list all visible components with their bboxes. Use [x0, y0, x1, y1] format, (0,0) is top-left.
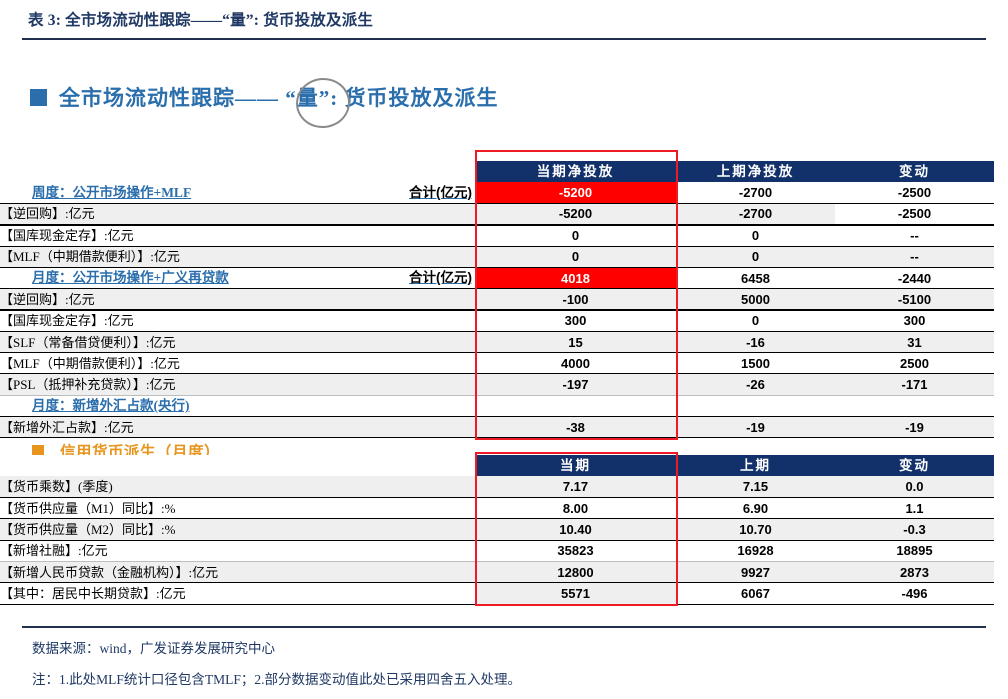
- cell-change: -5100: [835, 289, 994, 310]
- row-label: 【国库现金定存】:亿元: [0, 225, 475, 246]
- row-label: 【逆回购】:亿元: [0, 289, 475, 310]
- table-row: 【新增社融】:亿元 35823 16928 18895: [0, 540, 994, 561]
- table-row: 月度：公开市场操作+广义再贷款 合计(亿元) 4018 6458 -2440: [0, 267, 994, 288]
- table-credit-money-derivation: 当期 上期 变动 【货币乘数】(季度) 7.17 7.15 0.0 【货币供应量…: [0, 455, 994, 605]
- data-source-text: 数据来源：wind，广发证券发展研究中心: [32, 637, 275, 657]
- cell-previous: 10.70: [676, 519, 835, 540]
- row-label: 【货币供应量（M1）同比】:%: [0, 498, 475, 519]
- cell-current: 5571: [475, 583, 676, 604]
- table-row: 【SLF（常备借贷便利）】:亿元 15 -16 31: [0, 331, 994, 352]
- row-label: 【其中：居民中长期贷款】:亿元: [0, 583, 475, 604]
- cell-current: 4018: [475, 267, 676, 288]
- col-header-current: 当期: [475, 455, 676, 476]
- row-label: 【货币乘数】(季度): [0, 476, 475, 497]
- table-row: 【MLF（中期借款便利）】:亿元 4000 1500 2500: [0, 353, 994, 374]
- total-label: 合计(亿元): [409, 271, 475, 285]
- col-header-previous: 上期: [676, 455, 835, 476]
- cell-change: -19: [835, 417, 994, 438]
- cell-previous: 6067: [676, 583, 835, 604]
- row-label: 【MLF（中期借款便利）】:亿元: [0, 353, 475, 374]
- cell-previous: 6458: [676, 267, 835, 288]
- cell-current: [475, 395, 676, 416]
- total-label: 合计(亿元): [409, 186, 475, 200]
- row-label: 【新增社融】:亿元: [0, 540, 475, 561]
- caption-divider: [22, 38, 986, 40]
- cell-current: 300: [475, 310, 676, 331]
- cell-previous: 5000: [676, 289, 835, 310]
- cell-change: -2500: [835, 204, 994, 225]
- cell-current: 4000: [475, 353, 676, 374]
- table-row: 【逆回购】:亿元 -5200 -2700 -2500: [0, 204, 994, 225]
- cell-current: 0: [475, 225, 676, 246]
- table-row: 【货币供应量（M2）同比】:% 10.40 10.70 -0.3: [0, 519, 994, 540]
- row-label-group: 月度：新增外汇占款(央行): [0, 395, 475, 416]
- cell-previous: [676, 395, 835, 416]
- cell-current: 35823: [475, 540, 676, 561]
- table-row: 【国库现金定存】:亿元 300 0 300: [0, 310, 994, 331]
- table-row: 【货币乘数】(季度) 7.17 7.15 0.0: [0, 476, 994, 497]
- cell-change: 18895: [835, 540, 994, 561]
- row-label: 【新增外汇占款】:亿元: [0, 417, 475, 438]
- cell-current: -100: [475, 289, 676, 310]
- blue-square-bullet-icon: [30, 89, 47, 106]
- header-spacer: [0, 161, 475, 182]
- cell-current: -5200: [475, 182, 676, 203]
- cell-change: 2873: [835, 561, 994, 582]
- col-header-current: 当期净投放: [475, 161, 676, 182]
- row-label: 【MLF（中期借款便利）】:亿元: [0, 246, 475, 267]
- page-title: 全市场流动性跟踪—— “量”: 货币投放及派生: [30, 82, 499, 112]
- table-base-money-injection: 当期净投放 上期净投放 变动 周度：公开市场操作+MLF 合计(亿元) -520…: [0, 161, 994, 438]
- cell-change: 300: [835, 310, 994, 331]
- cell-change: -2440: [835, 267, 994, 288]
- cell-change: --: [835, 225, 994, 246]
- cell-previous: -2700: [676, 204, 835, 225]
- row-label: 【PSL（抵押补充贷款）】:亿元: [0, 374, 475, 395]
- table-row: 月度：新增外汇占款(央行): [0, 395, 994, 416]
- cell-current: 0: [475, 246, 676, 267]
- cell-previous: 16928: [676, 540, 835, 561]
- page-title-text: 全市场流动性跟踪—— “量”: 货币投放及派生: [59, 82, 499, 112]
- footnote-text: 注：1.此处MLF统计口径包含TMLF；2.部分数据变动值此处已采用四舍五入处理…: [32, 668, 521, 688]
- col-header-previous: 上期净投放: [676, 161, 835, 182]
- row-label-text: 月度：公开市场操作+广义再贷款: [32, 271, 229, 285]
- cell-previous: 6.90: [676, 498, 835, 519]
- cell-change: 0.0: [835, 476, 994, 497]
- cell-change: 1.1: [835, 498, 994, 519]
- cell-change: 31: [835, 331, 994, 352]
- table-row: 【新增人民币贷款（金融机构）】:亿元 12800 9927 2873: [0, 561, 994, 582]
- cell-current: 10.40: [475, 519, 676, 540]
- row-label-group: 周度：公开市场操作+MLF 合计(亿元): [0, 182, 475, 203]
- table-row: 周度：公开市场操作+MLF 合计(亿元) -5200 -2700 -2500: [0, 182, 994, 203]
- row-label: 【国库现金定存】:亿元: [0, 310, 475, 331]
- figure-caption: 表 3: 全市场流动性跟踪——“量”: 货币投放及派生: [28, 8, 373, 30]
- row-label: 【新增人民币贷款（金融机构）】:亿元: [0, 561, 475, 582]
- header-spacer: [0, 455, 475, 476]
- cell-change: -496: [835, 583, 994, 604]
- cell-previous: -2700: [676, 182, 835, 203]
- table-row: 【PSL（抵押补充贷款）】:亿元 -197 -26 -171: [0, 374, 994, 395]
- table-header-row: 当期净投放 上期净投放 变动: [0, 161, 994, 182]
- cell-change: 2500: [835, 353, 994, 374]
- cell-previous: -19: [676, 417, 835, 438]
- cell-change: -2500: [835, 182, 994, 203]
- cell-previous: 0: [676, 310, 835, 331]
- cell-current: 12800: [475, 561, 676, 582]
- row-label: 【货币供应量（M2）同比】:%: [0, 519, 475, 540]
- cell-previous: 0: [676, 246, 835, 267]
- cell-change: -171: [835, 374, 994, 395]
- table-header-row: 当期 上期 变动: [0, 455, 994, 476]
- table-row: 【新增外汇占款】:亿元 -38 -19 -19: [0, 417, 994, 438]
- table-row: 【货币供应量（M1）同比】:% 8.00 6.90 1.1: [0, 498, 994, 519]
- cell-current: 15: [475, 331, 676, 352]
- table-row: 【其中：居民中长期贷款】:亿元 5571 6067 -496: [0, 583, 994, 604]
- footer-divider: [22, 626, 986, 628]
- row-label-text: 周度：公开市场操作+MLF: [32, 186, 191, 200]
- col-header-change: 变动: [835, 161, 994, 182]
- cell-change: [835, 395, 994, 416]
- cell-current: 7.17: [475, 476, 676, 497]
- table-row: 【MLF（中期借款便利）】:亿元 0 0 --: [0, 246, 994, 267]
- col-header-change: 变动: [835, 455, 994, 476]
- row-label: 【逆回购】:亿元: [0, 204, 475, 225]
- cell-change: -0.3: [835, 519, 994, 540]
- cell-previous: 9927: [676, 561, 835, 582]
- cell-previous: -26: [676, 374, 835, 395]
- row-label-group: 月度：公开市场操作+广义再贷款 合计(亿元): [0, 267, 475, 288]
- row-label: 【SLF（常备借贷便利）】:亿元: [0, 331, 475, 352]
- cell-current: -38: [475, 417, 676, 438]
- cell-previous: 7.15: [676, 476, 835, 497]
- table-row: 【逆回购】:亿元 -100 5000 -5100: [0, 289, 994, 310]
- cell-previous: 0: [676, 225, 835, 246]
- table-row: 【国库现金定存】:亿元 0 0 --: [0, 225, 994, 246]
- cell-change: --: [835, 246, 994, 267]
- cell-current: -197: [475, 374, 676, 395]
- cell-current: -5200: [475, 204, 676, 225]
- cell-previous: -16: [676, 331, 835, 352]
- cell-previous: 1500: [676, 353, 835, 374]
- cell-current: 8.00: [475, 498, 676, 519]
